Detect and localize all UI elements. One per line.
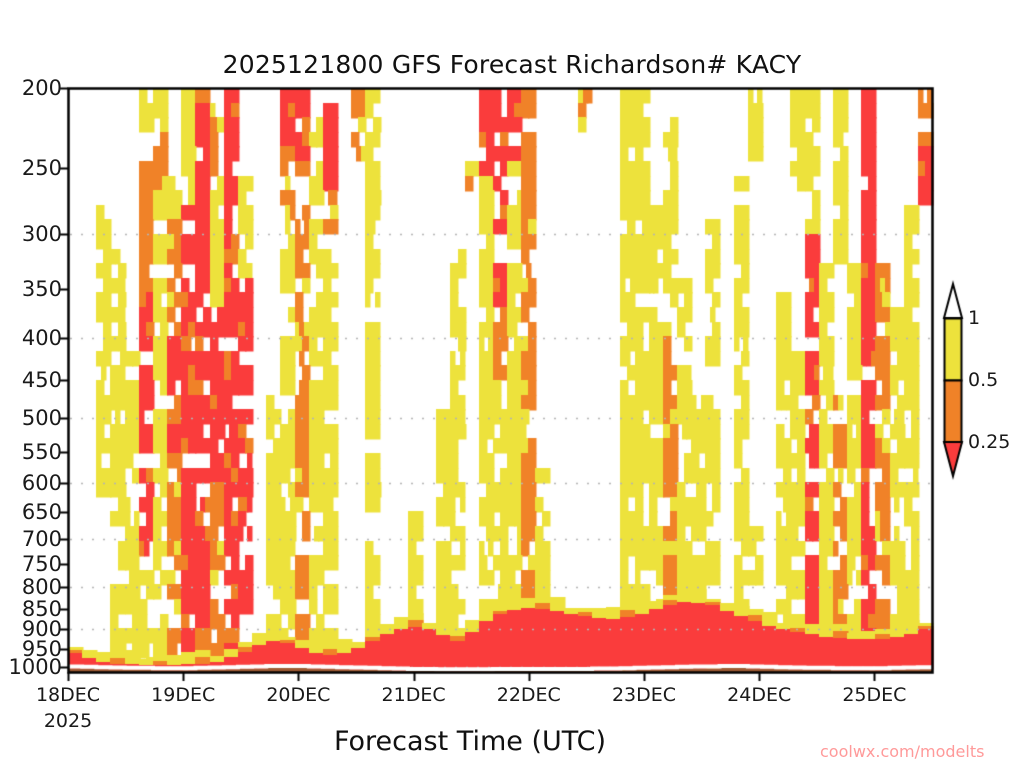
y-axis-tick-label: 500: [22, 406, 62, 430]
colorbar-tick-label: 0.25: [968, 431, 1010, 453]
y-axis-tick-label: 700: [22, 527, 62, 551]
y-axis-tick-label: 600: [22, 471, 62, 495]
richardson-number-heatmap: [0, 0, 1024, 768]
x-axis-tick-label: 19DEC: [151, 684, 215, 706]
colorbar-tick-label: 1: [968, 307, 980, 329]
x-axis-tick-label: 18DEC: [36, 684, 100, 706]
y-axis-tick-label: 450: [22, 368, 62, 392]
y-axis-tick-label: 750: [22, 552, 62, 576]
y-axis-tick-labels: 2002503003504004505005506006507007508008…: [0, 0, 62, 768]
x-axis-tick-label: 25DEC: [842, 684, 906, 706]
y-axis-tick-label: 350: [22, 277, 62, 301]
x-axis-tick-label: 20DEC: [266, 684, 330, 706]
y-axis-tick-label: 400: [22, 326, 62, 350]
x-axis-title: Forecast Time (UTC): [0, 726, 940, 757]
y-axis-tick-label: 250: [22, 156, 62, 180]
colorbar-tick-label: 0.5: [968, 369, 998, 391]
chart-root: 2025121800 GFS Forecast Richardson# KACY…: [0, 0, 1024, 768]
y-axis-tick-label: 800: [22, 575, 62, 599]
y-axis-tick-label: 1000: [9, 655, 62, 679]
y-axis-tick-label: 200: [22, 76, 62, 100]
x-axis-tick-label: 23DEC: [612, 684, 676, 706]
x-axis-tick-label: 22DEC: [497, 684, 561, 706]
x-axis-tick-label: 21DEC: [382, 684, 446, 706]
watermark: coolwx.com/modelts: [820, 742, 984, 761]
y-axis-tick-label: 300: [22, 222, 62, 246]
y-axis-tick-label: 550: [22, 440, 62, 464]
x-axis-tick-label: 24DEC: [727, 684, 791, 706]
y-axis-tick-label: 650: [22, 500, 62, 524]
